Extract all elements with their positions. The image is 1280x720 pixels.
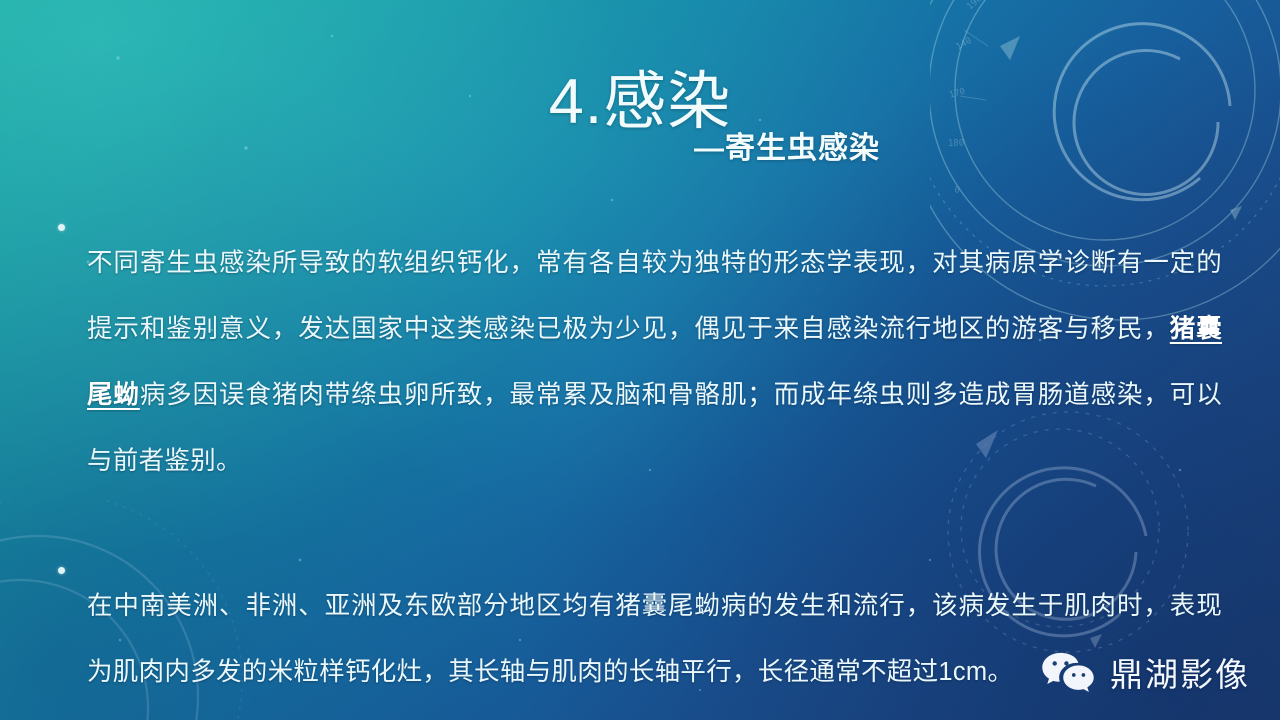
wechat-icon [1040,651,1096,693]
paragraph-segment: 病多因误食猪肉带绦虫卵所致，最常累及脑和骨骼肌；而成年绦虫则多造成胃肠道感染，可… [87,381,1222,475]
slide-body: 不同寄生虫感染所导致的软组织钙化，常有各自较为独特的形态学表现，对其病原学诊断有… [56,204,1222,720]
bullet-item: 不同寄生虫感染所导致的软组织钙化，常有各自较为独特的形态学表现，对其病原学诊断有… [56,204,1222,519]
wechat-watermark: 鼎湖影像 [1040,648,1250,696]
paragraph-segment: 不同寄生虫感染所导致的软组织钙化，常有各自较为独特的形态学表现，对其病原学诊断有… [87,249,1222,343]
bullet-paragraph: 不同寄生虫感染所导致的软组织钙化，常有各自较为独特的形态学表现，对其病原学诊断有… [87,230,1222,494]
slide-subtitle: —寄生虫感染 [694,131,880,167]
slide-title: 4.感染 [0,68,1280,137]
bullet-marker-icon [58,224,65,231]
wechat-account-name: 鼎湖影像 [1110,648,1250,696]
svg-text:190: 190 [965,0,984,12]
svg-text:0: 0 [953,185,960,196]
svg-text:180: 180 [948,138,965,149]
presentation-slide: 270 290 190 140 170 180 0 [0,0,1280,720]
bullet-marker-icon [58,567,65,574]
svg-text:140: 140 [955,36,974,53]
